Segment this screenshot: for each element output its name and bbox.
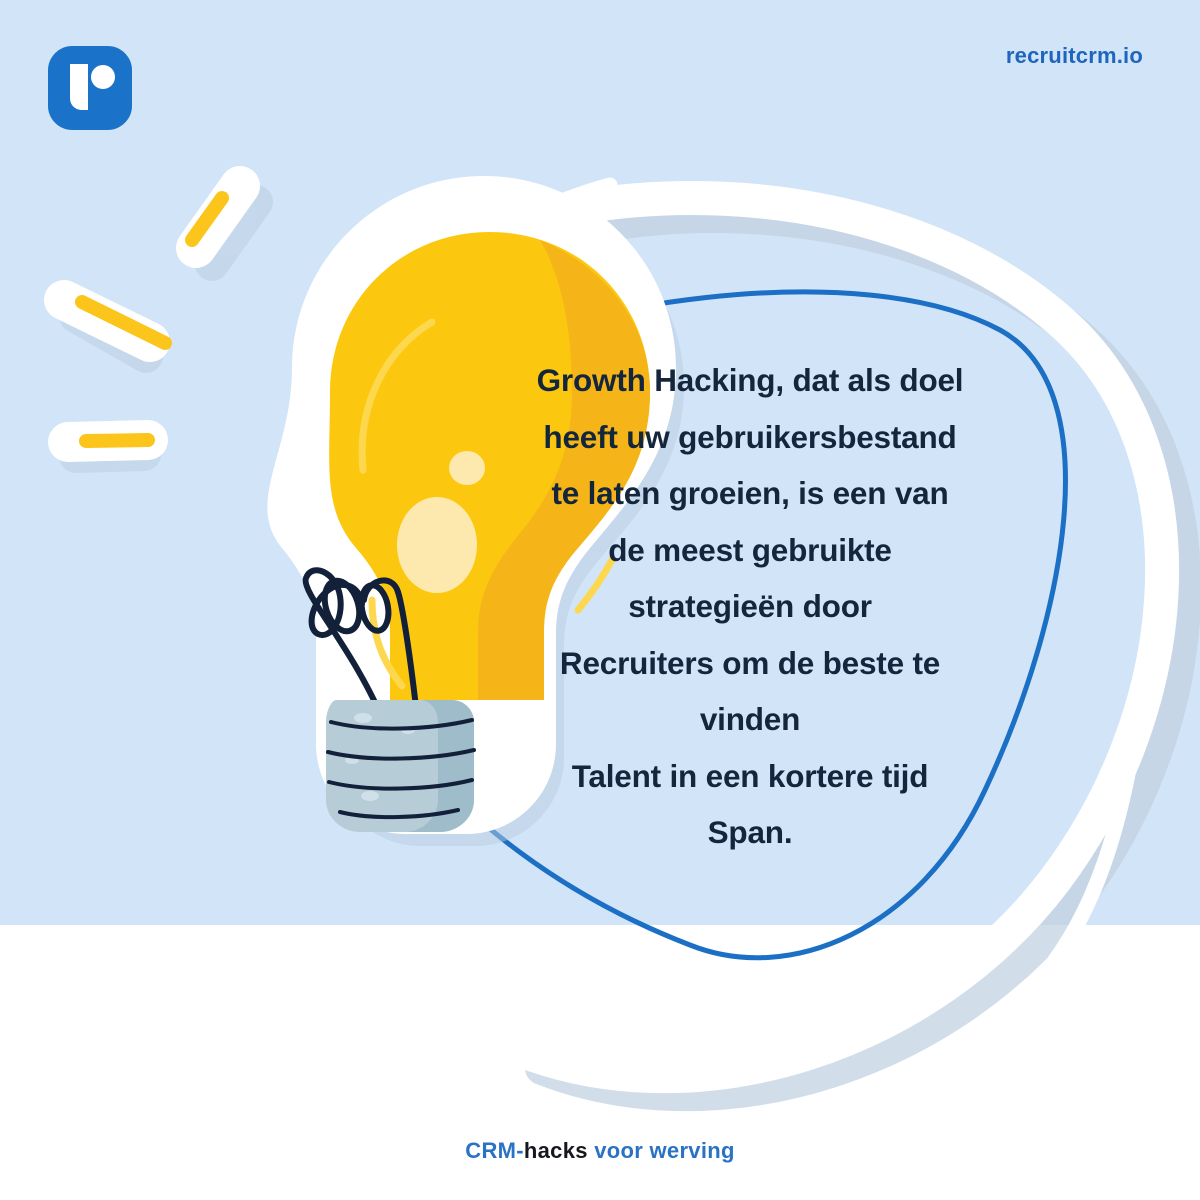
quote-line-3: te laten groeien, is een van	[500, 465, 1000, 522]
quote-line-8: Talent in een kortere tijd	[500, 748, 1000, 805]
logo-bar-shape	[70, 64, 88, 110]
quote-line-4: de meest gebruikte	[500, 522, 1000, 579]
quote-line-5: strategieën door	[500, 578, 1000, 635]
logo-dot-shape	[91, 65, 115, 89]
quote-line-7: vinden	[500, 691, 1000, 748]
social-card: recruitcrm.io Growth Hacking, dat als do…	[0, 0, 1200, 1200]
footer-part-crm: CRM-	[465, 1138, 524, 1163]
quote-line-2: heeft uw gebruikersbestand	[500, 409, 1000, 466]
footer-tagline: CRM-hacks voor werving	[0, 1138, 1200, 1164]
logo-squircle	[48, 46, 132, 130]
quote-text-block: Growth Hacking, dat als doel heeft uw ge…	[500, 352, 1000, 861]
site-url-label[interactable]: recruitcrm.io	[1006, 43, 1143, 69]
recruitcrm-logo-icon[interactable]	[46, 44, 134, 132]
footer-part-hacks: hacks	[524, 1138, 588, 1163]
quote-line-6: Recruiters om de beste te	[500, 635, 1000, 692]
quote-line-1: Growth Hacking, dat als doel	[500, 352, 1000, 409]
footer-part-voorwerving: voor werving	[588, 1138, 735, 1163]
quote-line-9: Span.	[500, 804, 1000, 861]
